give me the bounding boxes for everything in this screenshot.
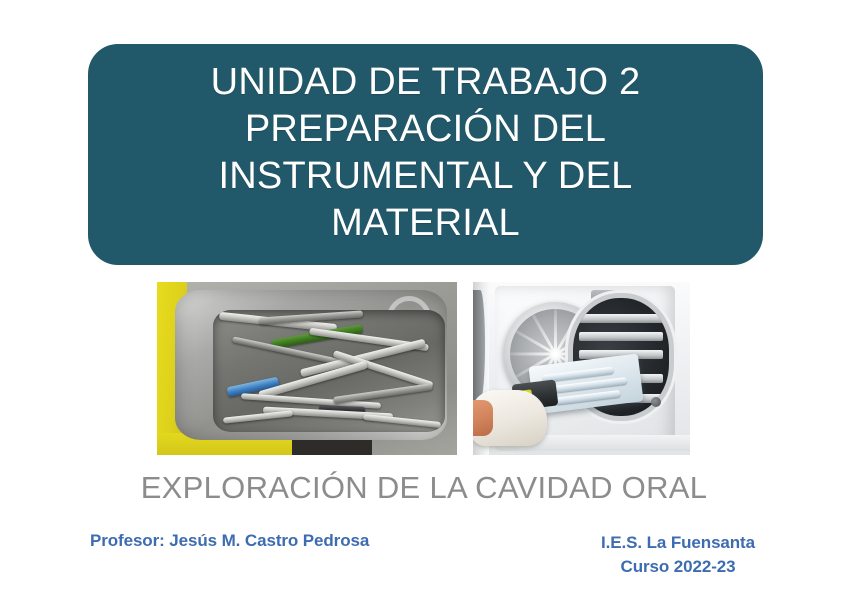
control-knob-icon — [651, 397, 661, 407]
instrument-tray-photo — [157, 282, 457, 455]
instrument — [333, 383, 433, 404]
footer-course: Curso 2022-23 — [560, 555, 796, 579]
page-title: UNIDAD DE TRABAJO 2 PREPARACIÓN DEL INST… — [211, 59, 641, 247]
chamber-shelf — [579, 332, 663, 341]
presentation-slide: UNIDAD DE TRABAJO 2 PREPARACIÓN DEL INST… — [0, 0, 848, 599]
autoclave-base — [519, 435, 690, 451]
chamber-shelf — [579, 314, 663, 323]
adjacent-unit-door — [473, 290, 485, 400]
tray-cavity — [213, 310, 445, 432]
instrument — [223, 410, 293, 423]
footer-institution: I.E.S. La Fuensanta Curso 2022-23 — [560, 531, 796, 579]
door-spoke — [510, 353, 555, 356]
slide-subtitle: EXPLORACIÓN DE LA CAVIDAD ORAL — [0, 470, 848, 506]
arm-sleeve — [473, 400, 493, 436]
steel-tray — [175, 290, 447, 440]
title-banner: UNIDAD DE TRABAJO 2 PREPARACIÓN DEL INST… — [88, 44, 763, 265]
door-spoke — [554, 309, 557, 354]
photo-row — [157, 282, 690, 455]
instrument — [363, 414, 441, 428]
autoclave-photo — [473, 282, 690, 455]
tray-pouch — [554, 390, 620, 405]
footer-school: I.E.S. La Fuensanta — [560, 531, 796, 555]
footer-teacher: Profesor: Jesús M. Castro Pedrosa — [90, 531, 369, 551]
